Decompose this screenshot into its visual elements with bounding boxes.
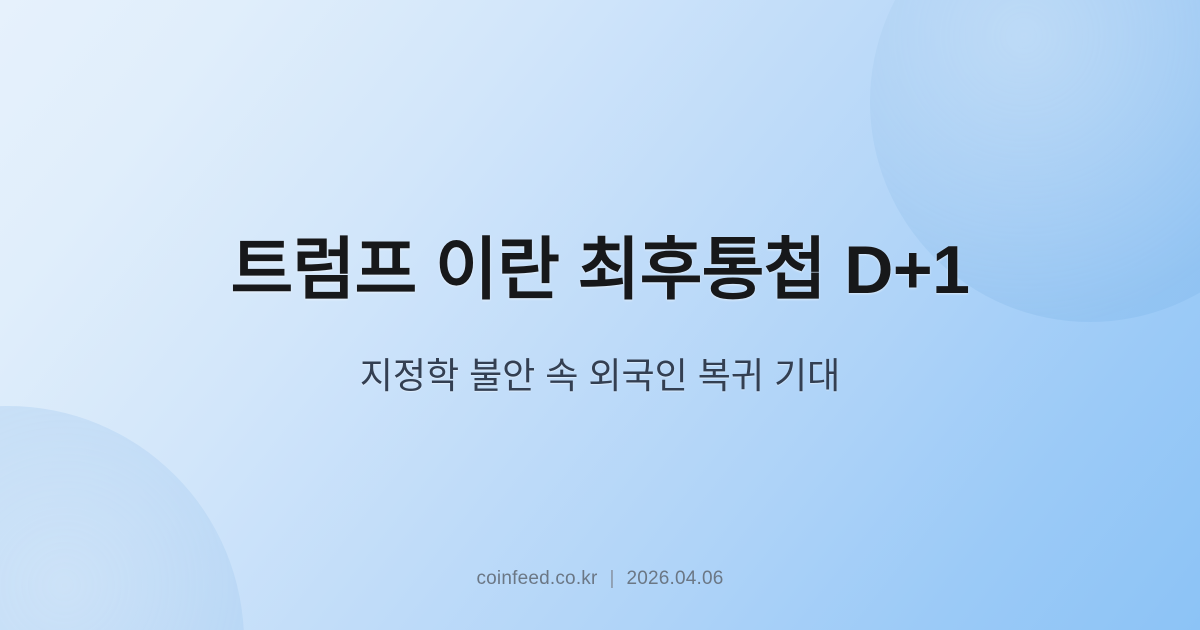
footer-separator: | [610, 568, 615, 590]
page-subtitle: 지정학 불안 속 외국인 복귀 기대 [360, 353, 841, 400]
card-content: 트럼프 이란 최후통첩 D+1 지정학 불안 속 외국인 복귀 기대 [0, 0, 1200, 630]
footer-date: 2026.04.06 [626, 568, 723, 590]
footer-site: coinfeed.co.kr [476, 568, 597, 590]
page-title: 트럼프 이란 최후통첩 D+1 [231, 230, 970, 310]
og-card: 트럼프 이란 최후통첩 D+1 지정학 불안 속 외국인 복귀 기대 coinf… [0, 0, 1200, 630]
footer: coinfeed.co.kr | 2026.04.06 [0, 568, 1200, 590]
